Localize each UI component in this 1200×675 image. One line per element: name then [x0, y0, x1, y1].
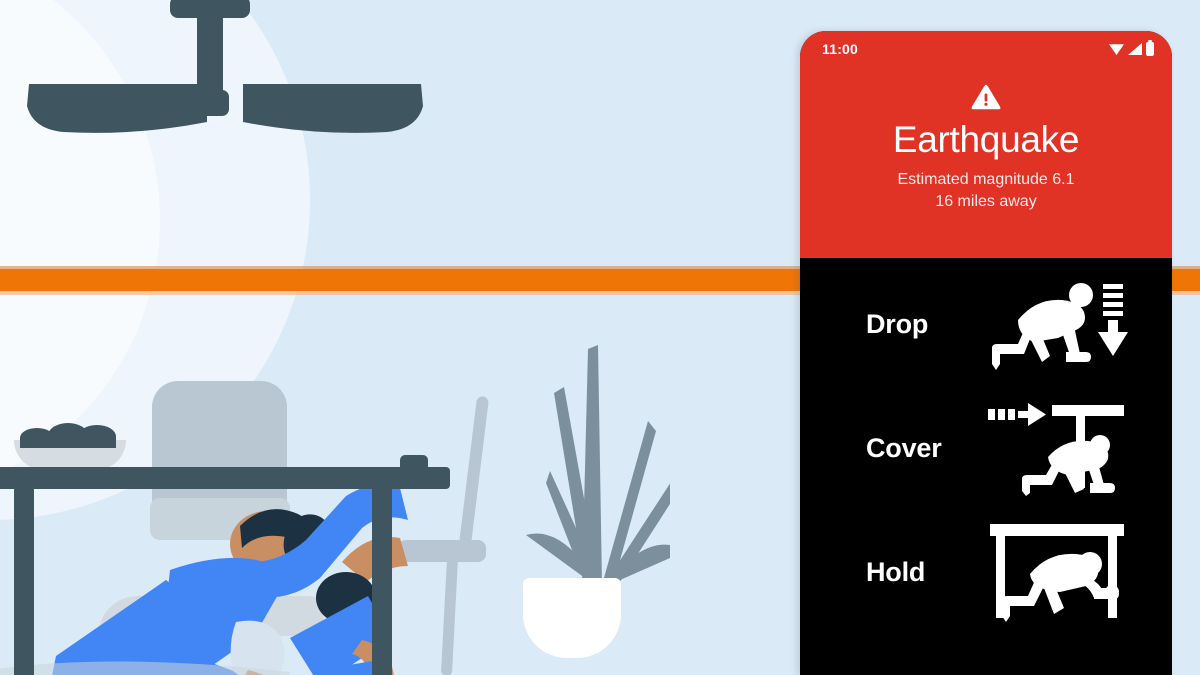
earthquake-alert-header: 11:00 Earthquake Estimated magnitud: [800, 31, 1172, 258]
safety-instructions-list: Drop: [800, 258, 1172, 675]
desk-leg-right: [372, 487, 392, 675]
status-bar-clock: 11:00: [822, 41, 858, 57]
instruction-row-cover: Cover: [800, 386, 1172, 510]
fruit-item: [78, 425, 116, 448]
alert-distance: 16 miles away: [800, 192, 1172, 212]
instruction-label-cover: Cover: [866, 433, 988, 464]
instruction-label-hold: Hold: [866, 557, 988, 588]
status-bar: 11:00: [800, 31, 1172, 57]
instruction-row-hold: Hold: [800, 510, 1172, 634]
fan-hub: [193, 90, 229, 116]
illustration-stage: 11:00 Earthquake Estimated magnitud: [0, 0, 1200, 675]
cellular-signal-icon: [1128, 43, 1142, 55]
plant-pot: [523, 578, 621, 658]
desk-top: [0, 467, 450, 489]
phone-mockup: 11:00 Earthquake Estimated magnitud: [800, 31, 1172, 675]
battery-icon: [1146, 42, 1154, 56]
ceiling-fan: [115, 0, 435, 136]
hold-table-leg-icon: [988, 522, 1172, 622]
potted-plant-leaves: [490, 335, 670, 615]
instruction-row-drop: Drop: [800, 262, 1172, 386]
cover-under-table-icon: [988, 401, 1172, 496]
instruction-label-drop: Drop: [866, 309, 988, 340]
drop-kneel-icon: [988, 278, 1172, 370]
warning-triangle-wrap: [800, 84, 1172, 111]
wifi-icon: [1109, 43, 1124, 55]
alert-title: Earthquake: [800, 121, 1172, 158]
alert-magnitude: Estimated magnitude 6.1: [800, 170, 1172, 190]
status-bar-icons: [1109, 42, 1154, 56]
desk-leg-left: [14, 487, 34, 675]
warning-triangle-icon: [971, 84, 1001, 111]
